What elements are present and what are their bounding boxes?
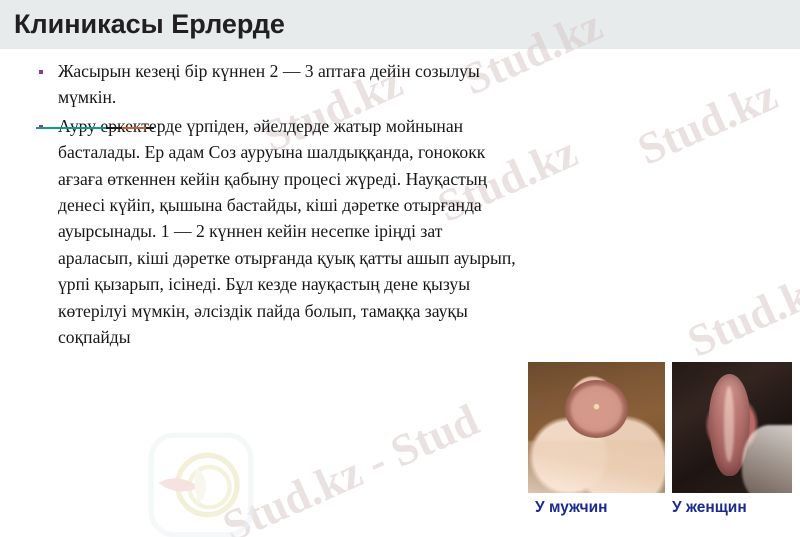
annotation-strike-line bbox=[36, 127, 106, 129]
slide: Клиникасы Ерлерде Stud.kz Stud.kz Stud.k… bbox=[0, 0, 800, 537]
figure-captions: У мужчин У женщин bbox=[528, 499, 792, 517]
figure-caption-female: У женщин bbox=[672, 499, 747, 517]
watermark-logo-icon bbox=[148, 432, 254, 537]
male-clinical-photo bbox=[528, 362, 665, 493]
glove-overlay bbox=[528, 441, 665, 493]
watermark-text: Stud.kz - Stud bbox=[215, 394, 486, 537]
bullet-marker-icon bbox=[39, 70, 43, 74]
page-title: Клиникасы Ерлерде bbox=[14, 7, 285, 41]
figure-row bbox=[528, 362, 792, 493]
bullet-text: Жасырын кезеңі бір күннен 2 — 3 аптаға д… bbox=[58, 61, 480, 107]
figure-caption-male: У мужчин bbox=[528, 499, 672, 517]
watermark-text: Stud.kz bbox=[630, 68, 785, 175]
list-item: Жасырын кезеңі бір күннен 2 — 3 аптаға д… bbox=[28, 58, 518, 111]
list-item: Ауру еркектерде үрпіден, әйелдерде жатыр… bbox=[28, 113, 518, 351]
figure-image-male bbox=[528, 362, 665, 493]
bullet-text: Ауру еркектерде үрпіден, әйелдерде жатыр… bbox=[58, 116, 516, 347]
figure-image-female bbox=[672, 362, 792, 493]
female-clinical-photo bbox=[672, 362, 792, 493]
figure-panel: У мужчин У женщин bbox=[528, 362, 792, 537]
watermark-text: Stud.kz bbox=[680, 260, 800, 367]
glove-overlay bbox=[742, 425, 792, 493]
slide-body: Жасырын кезеңі бір күннен 2 — 3 аптаға д… bbox=[28, 58, 518, 352]
annotation-strike-line-accent bbox=[122, 127, 146, 129]
